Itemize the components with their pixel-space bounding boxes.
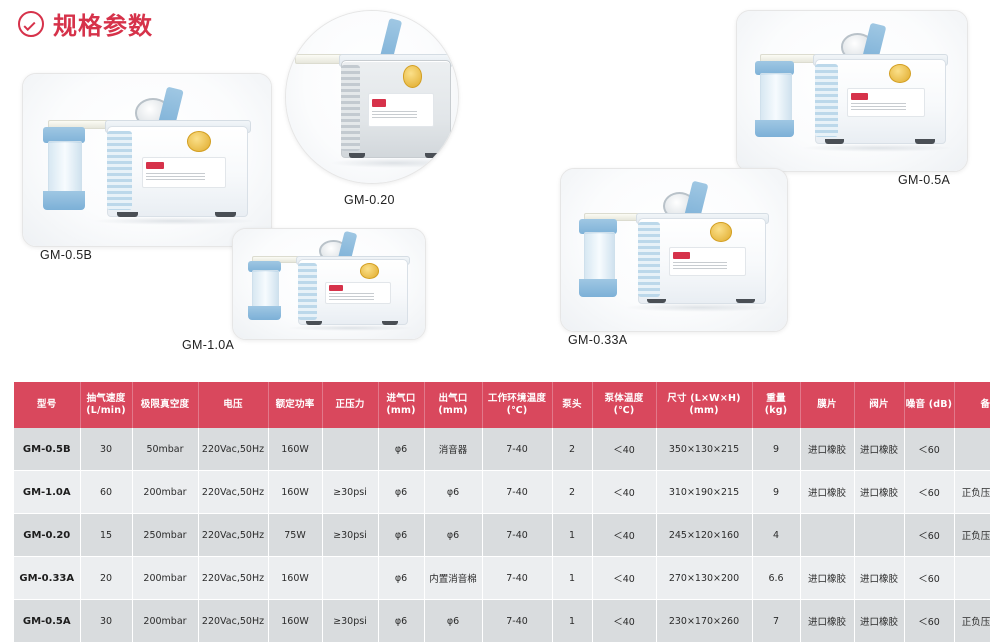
product-label-gm-0-20: GM-0.20 [344, 193, 395, 207]
header-label-line1: 额定功率 [270, 399, 321, 411]
header-label-line1: 型号 [15, 399, 79, 411]
header-label-line1: 备注 [956, 399, 990, 411]
cell-pumping_speed: 60 [80, 471, 132, 514]
product-label-gm-1-0a: GM-1.0A [182, 338, 234, 352]
header-label-line1: 工作环境温度 [484, 393, 551, 405]
cell-noise: ＜60 [904, 471, 954, 514]
table-header-cell-3: 电压 [198, 382, 268, 428]
cell-inlet: φ6 [378, 514, 424, 557]
cell-ambient_temp: 7-40 [482, 600, 552, 643]
table-header-cell-8: 工作环境温度(℃) [482, 382, 552, 428]
cell-valve_plate [854, 514, 904, 557]
cell-body_temp: ＜40 [592, 600, 656, 643]
cell-outlet: φ6 [424, 514, 482, 557]
cell-inlet: φ6 [378, 600, 424, 643]
product-label-gm-0-33a: GM-0.33A [568, 333, 627, 347]
cell-model: GM-0.20 [14, 514, 80, 557]
cell-pump_head: 2 [552, 428, 592, 471]
table-header-cell-15: 噪音 (dB) [904, 382, 954, 428]
cell-inlet: φ6 [378, 471, 424, 514]
cell-body_temp: ＜40 [592, 428, 656, 471]
product-photo-gm-0-5a [737, 11, 967, 171]
cell-weight: 7 [752, 600, 800, 643]
cell-positive_pressure [322, 428, 378, 471]
cell-dimensions: 245×120×160 [656, 514, 752, 557]
cell-ultimate_vacuum: 250mbar [132, 514, 198, 557]
table-row: GM-0.5A30200mbar220Vac,50Hz160W≥30psiφ6φ… [14, 600, 990, 643]
header-label-line1: 进气口 [380, 393, 423, 405]
cell-diaphragm: 进口橡胶 [800, 428, 854, 471]
cell-ambient_temp: 7-40 [482, 514, 552, 557]
pump-illustration [737, 11, 967, 171]
cell-model: GM-1.0A [14, 471, 80, 514]
header-label-line1: 泵头 [554, 399, 591, 411]
product-card-gm-0-20[interactable] [285, 10, 459, 184]
cell-diaphragm: 进口橡胶 [800, 600, 854, 643]
header-label-line1: 重量 (kg) [754, 393, 799, 417]
cell-body_temp: ＜40 [592, 557, 656, 600]
cell-positive_pressure: ≥30psi [322, 471, 378, 514]
cell-weight: 9 [752, 471, 800, 514]
product-photo-gm-0-33a [561, 169, 787, 331]
cell-noise: ＜60 [904, 557, 954, 600]
header-label-line1: 电压 [200, 399, 267, 411]
cell-remark [954, 557, 990, 600]
table-header-row: 型号抽气速度(L/min)极限真空度电压额定功率正压力进气口(mm)出气口(mm… [14, 382, 990, 428]
cell-pump_head: 1 [552, 600, 592, 643]
cell-remark [954, 428, 990, 471]
cell-outlet: φ6 [424, 600, 482, 643]
table-row: GM-0.33A20200mbar220Vac,50Hz160Wφ6内置消音棉7… [14, 557, 990, 600]
cell-voltage: 220Vac,50Hz [198, 557, 268, 600]
header-label-line1: 极限真空度 [134, 399, 197, 411]
cell-rated_power: 160W [268, 557, 322, 600]
table-header-cell-9: 泵头 [552, 382, 592, 428]
product-photo-gm-0-20 [286, 11, 458, 183]
pump-illustration [285, 10, 459, 184]
table-row: GM-0.5B3050mbar220Vac,50Hz160Wφ6消音器7-402… [14, 428, 990, 471]
header-label-line1: 正压力 [324, 399, 377, 411]
table-header-cell-0: 型号 [14, 382, 80, 428]
product-label-gm-0-5a: GM-0.5A [898, 173, 950, 187]
cell-ambient_temp: 7-40 [482, 428, 552, 471]
header-label-line1: 噪音 (dB) [906, 399, 953, 411]
cell-weight: 9 [752, 428, 800, 471]
header-label-line2: (mm) [380, 405, 423, 417]
table-header-cell-11: 尺寸 (L×W×H)(mm) [656, 382, 752, 428]
table-header-cell-16: 备注 [954, 382, 990, 428]
cell-ambient_temp: 7-40 [482, 557, 552, 600]
cell-ultimate_vacuum: 50mbar [132, 428, 198, 471]
cell-remark: 正负压两用型 [954, 600, 990, 643]
cell-noise: ＜60 [904, 514, 954, 557]
cell-outlet: φ6 [424, 471, 482, 514]
table-header-cell-4: 额定功率 [268, 382, 322, 428]
cell-body_temp: ＜40 [592, 471, 656, 514]
cell-ultimate_vacuum: 200mbar [132, 557, 198, 600]
cell-valve_plate: 进口橡胶 [854, 471, 904, 514]
pump-illustration [23, 74, 271, 246]
header-label-line1: 阀片 [856, 399, 903, 411]
product-photo-gm-1-0a [233, 229, 425, 339]
product-card-gm-0-5b[interactable] [22, 73, 272, 247]
header-label-line1: 泵体温度 [594, 393, 655, 405]
table-header-cell-13: 膜片 [800, 382, 854, 428]
cell-inlet: φ6 [378, 557, 424, 600]
header-label-line2: (L/min) [82, 405, 131, 417]
cell-pumping_speed: 20 [80, 557, 132, 600]
cell-voltage: 220Vac,50Hz [198, 428, 268, 471]
header-label-line1: 出气口 [426, 393, 481, 405]
cell-diaphragm: 进口橡胶 [800, 557, 854, 600]
cell-positive_pressure [322, 557, 378, 600]
cell-valve_plate: 进口橡胶 [854, 557, 904, 600]
cell-dimensions: 350×130×215 [656, 428, 752, 471]
table-header-cell-14: 阀片 [854, 382, 904, 428]
cell-rated_power: 75W [268, 514, 322, 557]
cell-valve_plate: 进口橡胶 [854, 600, 904, 643]
cell-diaphragm [800, 514, 854, 557]
cell-body_temp: ＜40 [592, 514, 656, 557]
cell-pumping_speed: 15 [80, 514, 132, 557]
header-label-line2: (℃) [594, 405, 655, 417]
cell-diaphragm: 进口橡胶 [800, 471, 854, 514]
cell-weight: 6.6 [752, 557, 800, 600]
product-card-gm-0-5a[interactable] [736, 10, 968, 172]
cell-model: GM-0.5B [14, 428, 80, 471]
cell-rated_power: 160W [268, 471, 322, 514]
cell-voltage: 220Vac,50Hz [198, 600, 268, 643]
header-label-line2: (℃) [484, 405, 551, 417]
product-card-gm-1-0a[interactable] [232, 228, 426, 340]
cell-pump_head: 1 [552, 557, 592, 600]
cell-voltage: 220Vac,50Hz [198, 471, 268, 514]
cell-model: GM-0.5A [14, 600, 80, 643]
cell-dimensions: 310×190×215 [656, 471, 752, 514]
cell-pump_head: 1 [552, 514, 592, 557]
table-row: GM-1.0A60200mbar220Vac,50Hz160W≥30psiφ6φ… [14, 471, 990, 514]
cell-ultimate_vacuum: 200mbar [132, 600, 198, 643]
cell-pump_head: 2 [552, 471, 592, 514]
cell-voltage: 220Vac,50Hz [198, 514, 268, 557]
table-header-cell-10: 泵体温度(℃) [592, 382, 656, 428]
header-label-line1: 尺寸 (L×W×H) [658, 393, 751, 405]
table-header-cell-12: 重量 (kg) [752, 382, 800, 428]
header-label-line2: (mm) [426, 405, 481, 417]
cell-outlet: 消音器 [424, 428, 482, 471]
cell-remark: 正负压两用型 [954, 514, 990, 557]
product-photo-gm-0-5b [23, 74, 271, 246]
table-header-cell-6: 进气口(mm) [378, 382, 424, 428]
table-header-cell-5: 正压力 [322, 382, 378, 428]
cell-noise: ＜60 [904, 600, 954, 643]
table-header-cell-7: 出气口(mm) [424, 382, 482, 428]
cell-positive_pressure: ≥30psi [322, 600, 378, 643]
product-label-gm-0-5b: GM-0.5B [40, 248, 92, 262]
cell-weight: 4 [752, 514, 800, 557]
product-gallery: GM-0.5B GM-0.20 GM-1.0A [0, 0, 990, 372]
table-header-cell-1: 抽气速度(L/min) [80, 382, 132, 428]
cell-dimensions: 270×130×200 [656, 557, 752, 600]
cell-pumping_speed: 30 [80, 428, 132, 471]
header-label-line1: 膜片 [802, 399, 853, 411]
cell-outlet: 内置消音棉 [424, 557, 482, 600]
table-body: GM-0.5B3050mbar220Vac,50Hz160Wφ6消音器7-402… [14, 428, 990, 643]
cell-positive_pressure: ≥30psi [322, 514, 378, 557]
cell-ambient_temp: 7-40 [482, 471, 552, 514]
cell-valve_plate: 进口橡胶 [854, 428, 904, 471]
table-header-cell-2: 极限真空度 [132, 382, 198, 428]
cell-pumping_speed: 30 [80, 600, 132, 643]
product-card-gm-0-33a[interactable] [560, 168, 788, 332]
cell-noise: ＜60 [904, 428, 954, 471]
pump-illustration [561, 169, 787, 331]
cell-rated_power: 160W [268, 428, 322, 471]
specifications-table: 型号抽气速度(L/min)极限真空度电压额定功率正压力进气口(mm)出气口(mm… [14, 382, 990, 643]
cell-ultimate_vacuum: 200mbar [132, 471, 198, 514]
header-label-line2: (mm) [658, 405, 751, 417]
cell-inlet: φ6 [378, 428, 424, 471]
header-label-line1: 抽气速度 [82, 393, 131, 405]
cell-model: GM-0.33A [14, 557, 80, 600]
table-row: GM-0.2015250mbar220Vac,50Hz75W≥30psiφ6φ6… [14, 514, 990, 557]
pump-illustration [233, 228, 425, 340]
cell-rated_power: 160W [268, 600, 322, 643]
cell-remark: 正负压两用型 [954, 471, 990, 514]
cell-dimensions: 230×170×260 [656, 600, 752, 643]
